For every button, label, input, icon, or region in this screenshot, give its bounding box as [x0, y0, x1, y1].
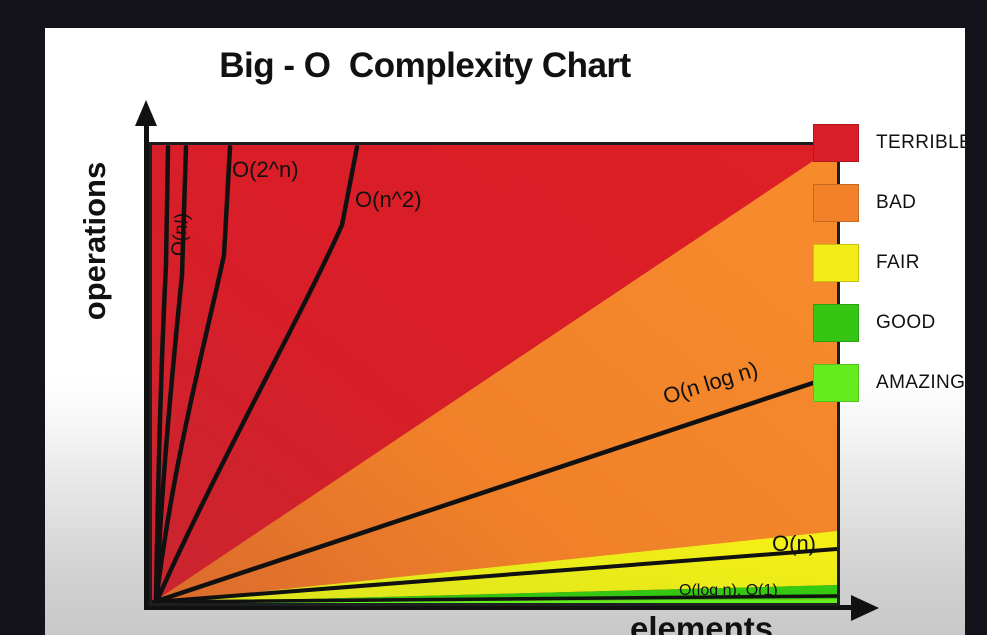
y-axis-label: operations — [77, 141, 113, 341]
legend-swatch-fair — [813, 244, 859, 282]
legend: TERRIBLE BAD FAIR GOOD AMAZING — [813, 113, 973, 413]
curve-label-o-log-n: O(log n), O(1) — [679, 582, 778, 600]
legend-item-terrible[interactable]: TERRIBLE — [813, 113, 973, 173]
legend-item-fair[interactable]: FAIR — [813, 233, 973, 293]
legend-swatch-terrible — [813, 124, 859, 162]
page-title: Big - O Complexity Chart — [45, 46, 805, 86]
chart-card: Big - O Complexity Chart operations elem… — [45, 28, 965, 635]
x-axis-label: elements — [630, 610, 773, 635]
legend-label-fair: FAIR — [876, 252, 920, 274]
legend-item-good[interactable]: GOOD — [813, 293, 973, 353]
legend-label-terrible: TERRIBLE — [876, 132, 972, 154]
legend-item-amazing[interactable]: AMAZING — [813, 353, 973, 413]
curve-label-o-n-factorial: O(n!) — [168, 212, 194, 257]
x-axis-arrow-icon — [851, 595, 879, 621]
legend-swatch-bad — [813, 184, 859, 222]
legend-swatch-amazing — [813, 364, 859, 402]
curve-label-o-n: O(n) — [772, 531, 816, 557]
screenshot-root: Big - O Complexity Chart operations elem… — [0, 0, 987, 635]
legend-label-amazing: AMAZING — [876, 372, 965, 394]
plot-area: O(n!) O(2^n) O(n^2) O(n log n) O(n) O(lo… — [149, 142, 840, 606]
legend-label-good: GOOD — [876, 312, 936, 334]
legend-label-bad: BAD — [876, 192, 916, 214]
curve-label-o-2-pow-n: O(2^n) — [232, 157, 299, 183]
legend-item-bad[interactable]: BAD — [813, 173, 973, 233]
curve-label-o-n-squared: O(n^2) — [355, 187, 422, 213]
legend-swatch-good — [813, 304, 859, 342]
